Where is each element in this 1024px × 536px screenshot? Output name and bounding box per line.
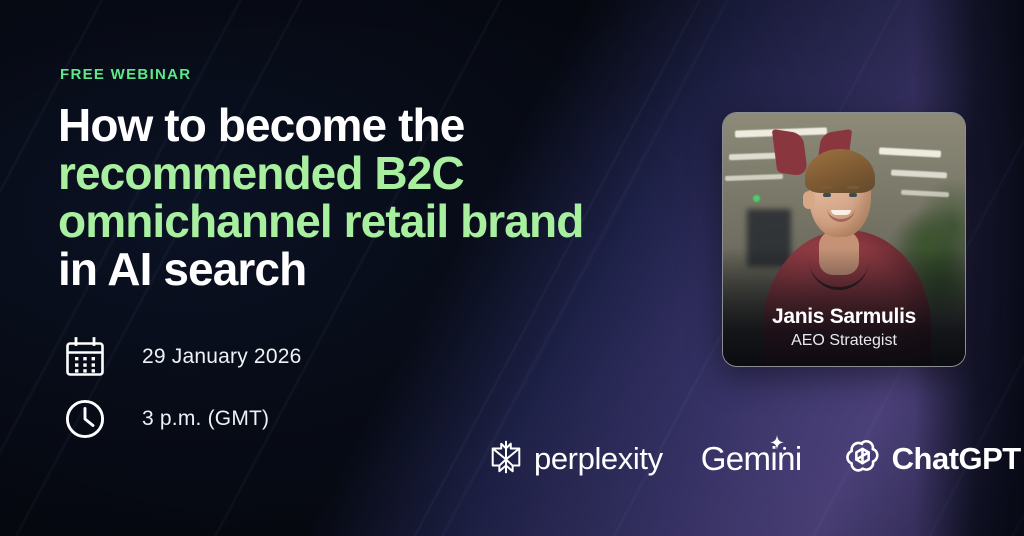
speaker-brow-right xyxy=(847,186,859,189)
headline-line-3: omnichannel retail brand xyxy=(58,197,718,245)
headline-line-2: recommended B2C xyxy=(58,149,718,197)
event-time-text: 3 p.m. (GMT) xyxy=(142,407,269,431)
clock-icon xyxy=(62,396,108,442)
speaker-ear xyxy=(803,191,815,209)
office-indicator-light xyxy=(753,195,760,202)
event-date-row: 29 January 2026 xyxy=(58,326,498,388)
openai-icon xyxy=(842,436,883,482)
ceiling-light xyxy=(879,147,941,157)
perplexity-icon xyxy=(487,438,525,481)
event-details: 29 January 2026 3 p.m. (GMT) xyxy=(58,326,498,450)
speaker-eye-right xyxy=(849,193,857,197)
eyebrow-label: FREE WEBINAR xyxy=(60,66,191,83)
speaker-card: Janis Sarmulis AEO Strategist xyxy=(722,112,966,367)
logo-perplexity: perplexity xyxy=(487,438,663,481)
ai-platform-logos: perplexity Gemini ChatGPT xyxy=(487,430,987,488)
speaker-hair xyxy=(805,149,875,193)
speaker-brow-left xyxy=(821,186,833,189)
speaker-role: AEO Strategist xyxy=(723,330,965,352)
headline-line-1: How to become the xyxy=(58,101,718,149)
logo-chatgpt: ChatGPT xyxy=(842,436,1021,482)
webinar-banner: FREE WEBINAR How to become the recommend… xyxy=(0,0,1024,536)
headline-line-4: in AI search xyxy=(58,245,718,293)
gemini-sparkle-icon xyxy=(764,433,788,462)
speaker-eye-left xyxy=(823,193,831,197)
speaker-teeth xyxy=(831,210,851,215)
event-date-text: 29 January 2026 xyxy=(142,345,301,369)
calendar-icon xyxy=(62,334,108,380)
speaker-name: Janis Sarmulis xyxy=(723,304,965,330)
speaker-card-labels: Janis Sarmulis AEO Strategist xyxy=(723,304,965,352)
page-title: How to become the recommended B2C omnich… xyxy=(58,101,718,293)
logo-gemini: Gemini xyxy=(701,440,802,478)
perplexity-wordmark: perplexity xyxy=(534,441,663,477)
ceiling-light xyxy=(891,170,947,179)
ceiling-light xyxy=(725,174,783,181)
chatgpt-wordmark: ChatGPT xyxy=(892,441,1021,477)
event-time-row: 3 p.m. (GMT) xyxy=(58,388,498,450)
ceiling-light xyxy=(901,190,949,198)
speaker-collar-left xyxy=(772,129,809,177)
